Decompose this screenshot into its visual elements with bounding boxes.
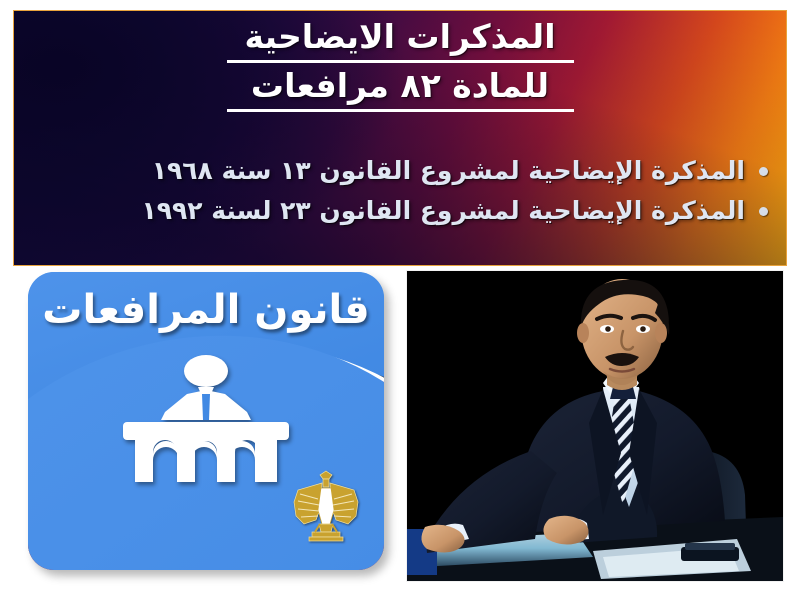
judge-bench-icon [115,354,297,486]
banner-title-block: المذكرات الايضاحية للمادة ٨٢ مرافعات [14,19,786,112]
bullet-dot-icon [759,207,768,216]
bullet-dot-icon [759,167,768,176]
slide-root: المذكرات الايضاحية للمادة ٨٢ مرافعات الم… [0,0,800,600]
banner-title-line-2: للمادة ٨٢ مرافعات [227,68,574,112]
bullet-item-label: المذكرة الإيضاحية لمشروع القانون ١٣ سنة … [152,156,745,186]
list-item: المذكرة الإيضاحية لمشروع القانون ١٣ سنة … [24,156,776,186]
speaker-photo [406,270,784,582]
list-item: المذكرة الإيضاحية لمشروع القانون ٢٣ لسنة… [24,196,776,226]
eagle-of-saladin-icon [292,468,360,550]
logo-card: قانون المرافعات [28,272,384,570]
header-banner: المذكرات الايضاحية للمادة ٨٢ مرافعات الم… [13,10,787,266]
bullet-item-label: المذكرة الإيضاحية لمشروع القانون ٢٣ لسنة… [142,196,745,226]
logo-card-container: قانون المرافعات [28,272,384,570]
logo-title: قانون المرافعات [28,288,384,332]
banner-title-line-1: المذكرات الايضاحية [227,19,574,63]
banner-bullet-list: المذكرة الإيضاحية لمشروع القانون ١٣ سنة … [24,156,776,236]
